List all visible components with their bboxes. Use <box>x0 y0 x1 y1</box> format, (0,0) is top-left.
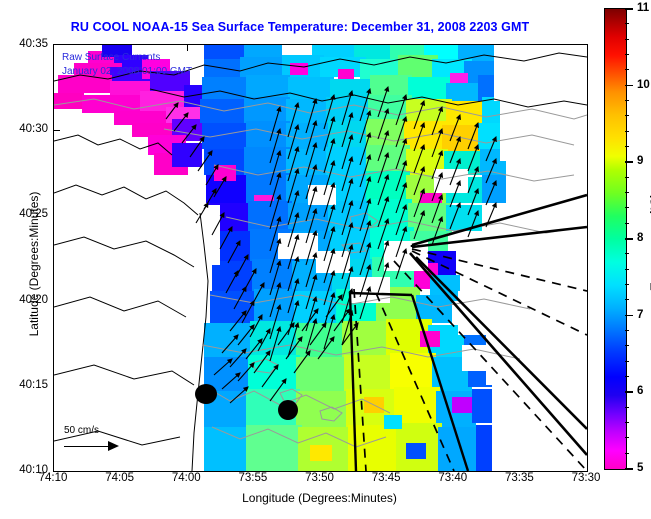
colorbar-minor-tick <box>625 437 629 438</box>
x-tick-label: 73:40 <box>438 472 467 484</box>
colorbar-minor-tick <box>625 177 629 178</box>
colorbar-tick <box>625 468 633 470</box>
page-title: RU COOL NOAA-15 Sea Surface Temperature:… <box>0 20 600 34</box>
x-tick-label: 73:55 <box>238 472 267 484</box>
colorbar-tick-label: 6 <box>637 385 643 397</box>
colorbar-minor-tick <box>625 284 629 285</box>
velocity-scale-legend: 50 cm/s <box>64 425 122 451</box>
x-tick-label: 74:05 <box>105 472 134 484</box>
colorbar-tick <box>625 391 633 393</box>
scale-arrow-icon <box>64 441 122 451</box>
colorbar-minor-tick <box>625 330 629 331</box>
x-tick-label: 73:50 <box>305 472 334 484</box>
colorbar-tick-label: 10 <box>637 79 650 91</box>
colorbar[interactable] <box>604 8 627 470</box>
plot-clip: Raw Surface Currents January 02, 2008 01… <box>54 45 587 471</box>
x-tick-label: 73:35 <box>505 472 534 484</box>
station-marker <box>278 400 298 420</box>
colorbar-minor-tick <box>625 207 629 208</box>
colorbar-tick-label: 7 <box>637 309 643 321</box>
colorbar-tick <box>625 238 633 240</box>
station-marker <box>195 384 217 404</box>
colorbar-tick <box>625 85 633 87</box>
colorbar-minor-tick <box>625 422 629 423</box>
colorbar-minor-tick <box>625 299 629 300</box>
radar-station-marker-layer <box>54 45 587 471</box>
colorbar-minor-tick <box>625 192 629 193</box>
colorbar-minor-tick <box>625 223 629 224</box>
colorbar-tick <box>625 315 633 317</box>
colorbar-minor-tick <box>625 115 629 116</box>
colorbar-minor-tick <box>625 146 629 147</box>
x-tick-label: 74:00 <box>172 472 201 484</box>
colorbar-minor-tick <box>625 376 629 377</box>
colorbar-minor-tick <box>625 23 629 24</box>
colorbar-minor-tick <box>625 361 629 362</box>
scale-legend-label: 50 cm/s <box>64 425 122 436</box>
colorbar-minor-tick <box>625 269 629 270</box>
colorbar-minor-tick <box>625 39 629 40</box>
y-tick-label: 40:35 <box>19 38 48 50</box>
sst-map-plot-area[interactable]: Raw Surface Currents January 02, 2008 01… <box>53 44 588 472</box>
colorbar-minor-tick <box>625 100 629 101</box>
colorbar-minor-tick <box>625 69 629 70</box>
x-tick-label: 73:30 <box>572 472 601 484</box>
x-axis-title: Longitude (Degrees:Minutes) <box>53 491 586 505</box>
y-tick-label: 40:30 <box>19 123 48 135</box>
colorbar-minor-tick <box>625 54 629 55</box>
colorbar-minor-tick <box>625 345 629 346</box>
x-tick-label: 73:45 <box>372 472 401 484</box>
colorbar-minor-tick <box>625 407 629 408</box>
colorbar-tick-label: 9 <box>637 155 643 167</box>
colorbar-minor-tick <box>625 131 629 132</box>
colorbar-tick <box>625 161 633 163</box>
colorbar-minor-tick <box>625 453 629 454</box>
y-axis-title: Latitude (Degrees:Minutes) <box>27 144 41 384</box>
y-tick-label: 40:10 <box>19 464 48 476</box>
colorbar-tick-label: 11 <box>637 2 649 14</box>
colorbar-tick-label: 8 <box>637 232 643 244</box>
colorbar-minor-tick <box>625 253 629 254</box>
colorbar-tick <box>625 8 633 10</box>
colorbar-tick-label: 5 <box>637 462 643 474</box>
